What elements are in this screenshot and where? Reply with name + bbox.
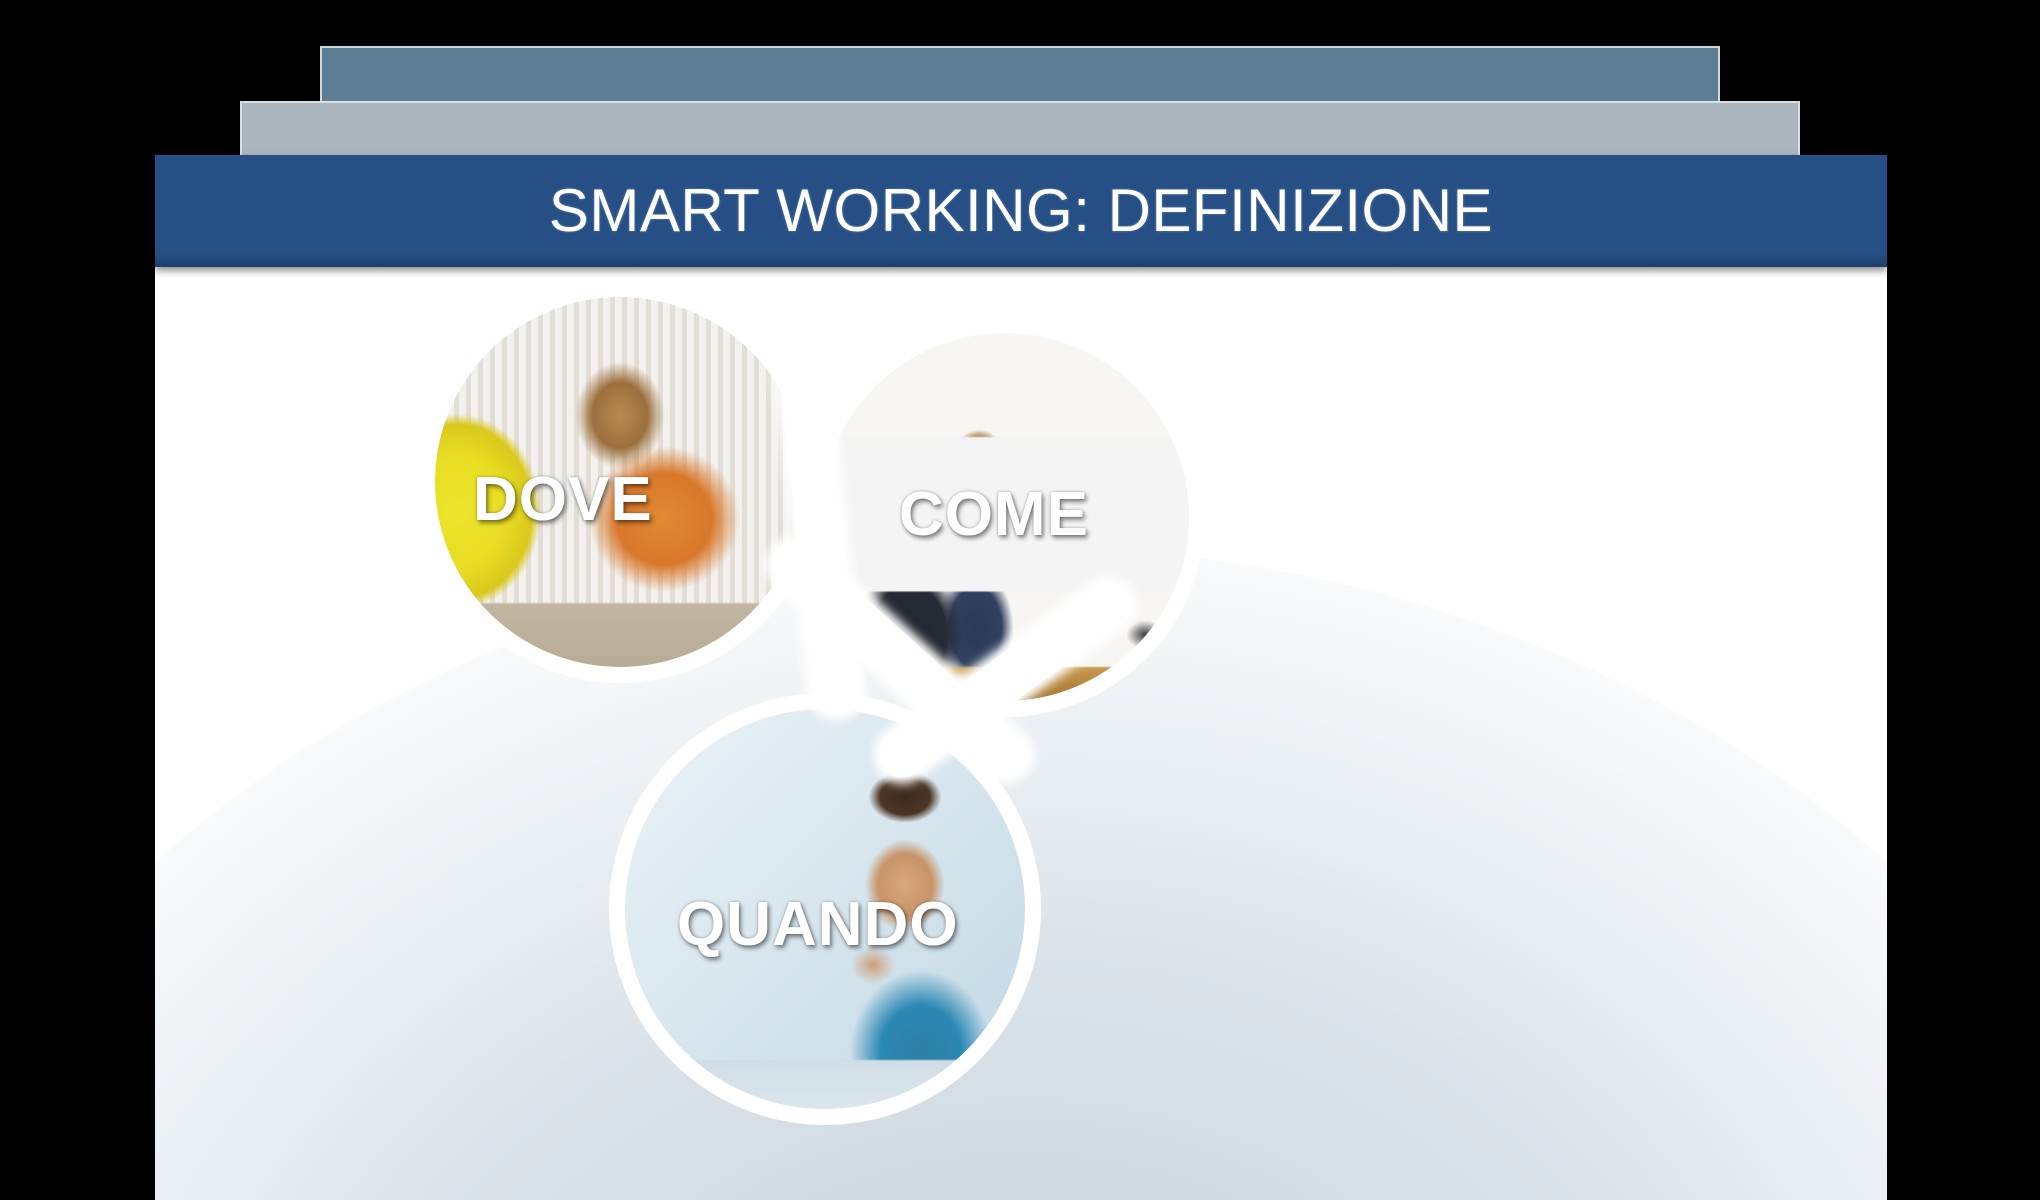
slide-content-area: DOVE COME QUANDO [155,267,1887,1200]
slide-title-bar: SMART WORKING: DEFINIZIONE [155,155,1887,267]
page-title: SMART WORKING: DEFINIZIONE [549,181,1493,241]
segment-label-quando: QUANDO [677,889,959,960]
presentation-slide: SMART WORKING: DEFINIZIONE DOVE COME QUA… [0,0,2040,1200]
segment-quando[interactable]: QUANDO [625,709,1025,1109]
segment-dove[interactable]: DOVE [435,297,805,667]
segment-label-come: COME [899,479,1089,550]
segment-label-dove: DOVE [473,464,653,535]
segment-come[interactable]: COME [821,333,1189,701]
three-circle-pinwheel-diagram: DOVE COME QUANDO [435,285,1295,1175]
decorative-gray-bar [240,101,1800,157]
